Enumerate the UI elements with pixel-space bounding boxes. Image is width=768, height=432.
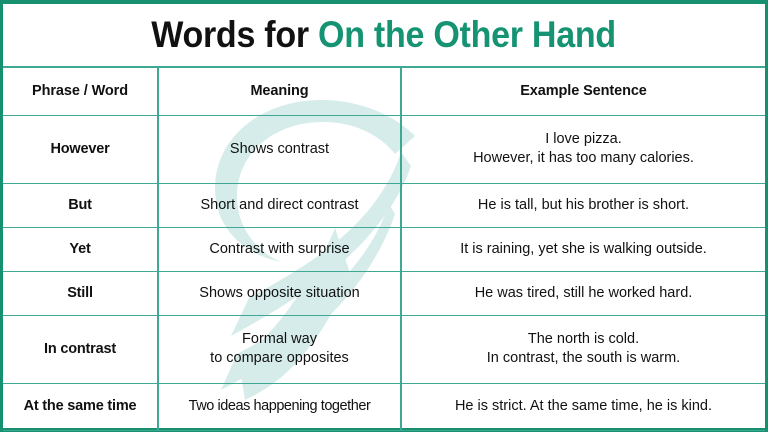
page-title-prefix: Words for [152, 14, 319, 55]
column-header-example: Example Sentence [401, 68, 765, 115]
page-title-bar: Words for On the Other Hand [3, 4, 765, 68]
table-body: However Shows contrast I love pizza. How… [3, 115, 765, 430]
cell-phrase: But [3, 183, 158, 227]
infographic-page: Words for On the Other Hand Phrase / Wor… [0, 0, 768, 432]
words-table: Phrase / Word Meaning Example Sentence H… [3, 68, 765, 431]
cell-example-line1: I love pizza. [407, 130, 760, 149]
cell-meaning: Contrast with surprise [158, 227, 401, 271]
cell-example: The north is cold. In contrast, the sout… [401, 315, 765, 383]
cell-example-line1: He was tired, still he worked hard. [407, 284, 760, 303]
cell-meaning-line1: Contrast with surprise [164, 240, 395, 259]
cell-example-line1: He is tall, but his brother is short. [407, 196, 760, 215]
cell-meaning-line1: Shows contrast [164, 140, 395, 159]
page-title-highlight: On the Other Hand [318, 14, 616, 55]
cell-meaning: Shows contrast [158, 115, 401, 183]
cell-meaning: Formal way to compare opposites [158, 315, 401, 383]
table-row: Still Shows opposite situation He was ti… [3, 271, 765, 315]
cell-meaning-line1: Formal way [164, 330, 395, 349]
cell-example-line2: In contrast, the south is warm. [407, 349, 760, 368]
cell-phrase: Still [3, 271, 158, 315]
cell-example-line1: It is raining, yet she is walking outsid… [407, 240, 760, 259]
cell-meaning: Shows opposite situation [158, 271, 401, 315]
cell-example-line1: He is strict. At the same time, he is ki… [407, 397, 760, 416]
page-title: Words for On the Other Hand [152, 14, 617, 56]
cell-example: He was tired, still he worked hard. [401, 271, 765, 315]
table-header: Phrase / Word Meaning Example Sentence [3, 68, 765, 115]
cell-meaning: Two ideas happening together [158, 383, 401, 430]
table-row: But Short and direct contrast He is tall… [3, 183, 765, 227]
table-header-row: Phrase / Word Meaning Example Sentence [3, 68, 765, 115]
cell-meaning-line1: Two ideas happening together [164, 397, 395, 416]
table-row: Yet Contrast with surprise It is raining… [3, 227, 765, 271]
cell-meaning-line2: to compare opposites [164, 349, 395, 368]
cell-example-line2: However, it has too many calories. [407, 149, 760, 168]
table-row: At the same time Two ideas happening tog… [3, 383, 765, 430]
table-row: In contrast Formal way to compare opposi… [3, 315, 765, 383]
cell-meaning-line1: Short and direct contrast [164, 196, 395, 215]
cell-example: He is tall, but his brother is short. [401, 183, 765, 227]
cell-phrase: However [3, 115, 158, 183]
cell-example: He is strict. At the same time, he is ki… [401, 383, 765, 430]
cell-phrase: At the same time [3, 383, 158, 430]
cell-phrase: In contrast [3, 315, 158, 383]
cell-meaning: Short and direct contrast [158, 183, 401, 227]
cell-example-line1: The north is cold. [407, 330, 760, 349]
cell-meaning-line1: Shows opposite situation [164, 284, 395, 303]
cell-example: It is raining, yet she is walking outsid… [401, 227, 765, 271]
cell-phrase: Yet [3, 227, 158, 271]
column-header-phrase: Phrase / Word [3, 68, 158, 115]
cell-example: I love pizza. However, it has too many c… [401, 115, 765, 183]
column-header-meaning: Meaning [158, 68, 401, 115]
table-row: However Shows contrast I love pizza. How… [3, 115, 765, 183]
